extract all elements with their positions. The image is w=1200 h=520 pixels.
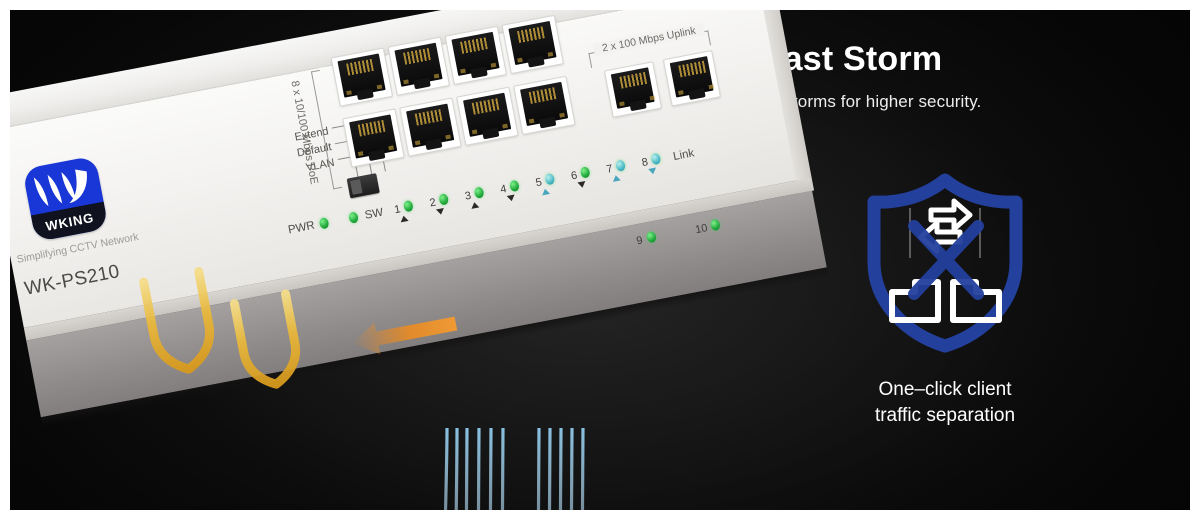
port-marker-8-down-icon (648, 168, 657, 175)
port-marker-6-down-icon (577, 181, 586, 188)
rj45-port-2[interactable] (388, 37, 450, 96)
pwr-led (319, 217, 330, 229)
port-marker-2-down-icon (436, 208, 445, 215)
port-marker-7-up-icon (612, 174, 621, 181)
shield-icon-wrapper (858, 170, 1033, 355)
port-marker-3-up-icon (470, 201, 479, 208)
port-label-10: 10 (694, 222, 708, 236)
port-led-1 (403, 200, 414, 212)
screenshot-frame: Port Isolation to Prevent Broadcast Stor… (0, 0, 1200, 520)
pwr-label: PWR (287, 220, 316, 237)
port-label-8: 8 (641, 156, 649, 169)
switch-chassis: WKING Simplifying CCTV Network WK-PS210 … (10, 10, 828, 422)
feature-caption-line2: traffic separation (815, 403, 1075, 429)
feature-caption: One–click client traffic separation (815, 377, 1075, 428)
port-label-3: 3 (464, 190, 472, 203)
sw-label: SW (364, 207, 384, 222)
device-floor-shadow (10, 498, 760, 510)
rj45-port-9[interactable] (604, 61, 662, 118)
brand-text: WKING (44, 210, 95, 234)
port-led-3 (474, 186, 485, 198)
port-led-8 (650, 153, 661, 165)
port-led-6 (580, 166, 591, 178)
rj45-port-5[interactable] (342, 108, 404, 167)
port-label-2: 2 (429, 197, 437, 210)
port-led-5 (544, 173, 555, 185)
port-label-5: 5 (535, 176, 543, 189)
rj45-port-1[interactable] (331, 47, 393, 106)
rj45-port-7[interactable] (456, 87, 518, 146)
rj45-port-6[interactable] (399, 97, 461, 156)
port-marker-4-down-icon (507, 195, 516, 202)
link-label: Link (672, 147, 695, 163)
sw-led (348, 211, 359, 223)
port-label-7: 7 (605, 163, 613, 176)
port-led-4 (509, 180, 520, 192)
feature-caption-line1: One–click client (815, 377, 1075, 403)
rj45-port-8[interactable] (513, 76, 575, 135)
port-label-6: 6 (570, 170, 578, 183)
port-label-1: 1 (393, 203, 401, 216)
port-label-4: 4 (499, 183, 507, 196)
port-marker-1-up-icon (400, 215, 409, 222)
port-led-7 (615, 159, 626, 171)
network-switch-illustration: WKING Simplifying CCTV Network WK-PS210 … (10, 98, 810, 510)
rj45-port-10[interactable] (663, 50, 721, 107)
rj45-port-3[interactable] (445, 26, 507, 85)
shield-port-isolation-icon (858, 170, 1033, 355)
port-led-2 (438, 193, 449, 205)
rj45-port-4[interactable] (502, 15, 564, 74)
hero-stage: Port Isolation to Prevent Broadcast Stor… (10, 10, 1190, 510)
port-marker-5-up-icon (541, 188, 550, 195)
feature-block: One–click client traffic separation (815, 170, 1075, 428)
wking-logo: WKING (22, 156, 109, 243)
